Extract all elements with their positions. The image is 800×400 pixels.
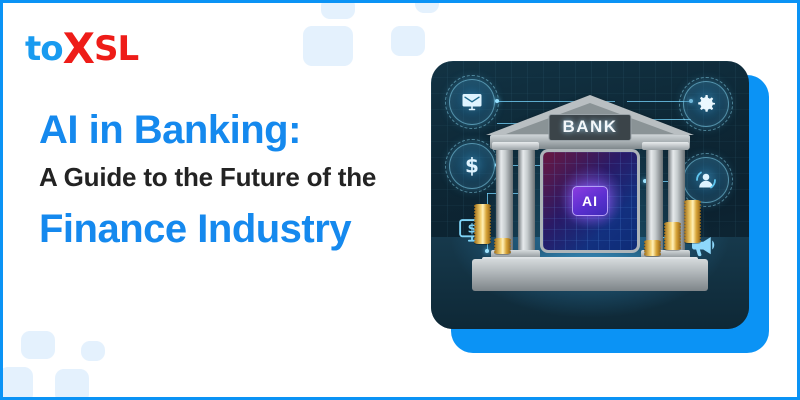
logo-text-sl: SL — [94, 29, 138, 69]
coin — [494, 250, 511, 254]
deco-square-top-b — [415, 0, 439, 13]
deco-square-top-a — [321, 0, 355, 19]
coin-stack-right-short — [644, 241, 661, 261]
coin — [664, 246, 681, 250]
headline-line-2: A Guide to the Future of the — [39, 158, 419, 197]
coin-stack-left-tall — [474, 205, 491, 261]
illustration-wrapper: $ $ — [423, 53, 773, 353]
ai-chip-label: AI — [582, 193, 598, 209]
coin-stack-left-short — [494, 239, 511, 261]
deco-square-bot-d — [55, 369, 89, 400]
bank-column-1 — [496, 149, 513, 251]
brand-logo[interactable]: toXSL — [25, 25, 138, 67]
bank-sign-label: BANK — [562, 117, 617, 136]
deco-square-bot-c — [0, 367, 33, 400]
headline-block: AI in Banking: A Guide to the Future of … — [39, 107, 419, 253]
coin — [474, 240, 491, 244]
headline-line-3: Finance Industry — [39, 206, 419, 253]
bank-column-2 — [518, 149, 535, 251]
banner-root: toXSL AI in Banking: A Guide to the Futu… — [0, 0, 800, 400]
coin — [684, 239, 701, 243]
headline-line-1: AI in Banking: — [39, 107, 419, 154]
ai-display-screen: AI — [540, 149, 640, 253]
ai-chip-badge: AI — [572, 186, 608, 216]
deco-square-top-d — [391, 26, 425, 56]
bank-base-plinth — [472, 259, 708, 291]
deco-square-bot-a — [21, 331, 55, 359]
deco-square-bot-b — [81, 341, 105, 361]
coin-stack-right-mid — [664, 223, 681, 261]
logo-text-to: to — [25, 29, 63, 69]
bank-column-3 — [646, 149, 663, 251]
bank-building: BANK AI — [486, 95, 694, 291]
coin — [644, 252, 661, 256]
deco-square-top-c — [303, 26, 353, 66]
illustration-card: $ $ — [431, 61, 749, 329]
logo-text-x: X — [63, 24, 94, 73]
bank-sign: BANK — [548, 114, 631, 141]
coin-stack-right-tall — [684, 201, 701, 261]
